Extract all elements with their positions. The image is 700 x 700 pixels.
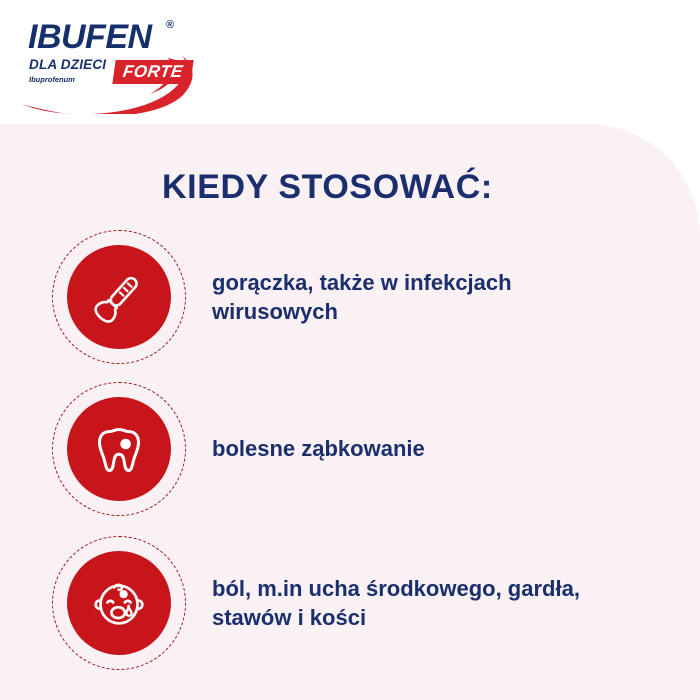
crying-baby-face-icon (90, 574, 148, 632)
list-item: gorączka, także w infekcjach wirusowych (52, 230, 652, 364)
list-item: bolesne ząbkowanie (52, 382, 652, 516)
thermometer-icon (90, 268, 148, 326)
icon-dashed-ring (52, 382, 186, 516)
list-item-label: ból, m.in ucha środkowego, gardła, stawó… (212, 574, 632, 633)
tooth-icon (90, 420, 148, 478)
list-item-label: gorączka, także w infekcjach wirusowych (212, 268, 632, 327)
icon-disc (67, 551, 171, 655)
list-item-label: bolesne ząbkowanie (212, 434, 425, 463)
brand-wordmark: IBUFEN (28, 20, 152, 54)
icon-dashed-ring (52, 230, 186, 364)
brand-variant-badge: FORTE (112, 60, 193, 84)
icon-disc (67, 397, 171, 501)
brand-active-substance: Ibuprofenum (29, 76, 75, 84)
icon-dashed-ring (52, 536, 186, 670)
list-item: ból, m.in ucha środkowego, gardła, stawó… (52, 536, 652, 670)
page-title: KIEDY STOSOWAĆ: (162, 170, 493, 204)
brand-subtitle: DLA DZIECI (29, 58, 106, 72)
icon-disc (67, 245, 171, 349)
content-panel: KIEDY STOSOWAĆ: gorączka, także w infekc… (0, 124, 700, 700)
brand-logo: IBUFEN ® DLA DZIECI Ibuprofenum FORTE (18, 14, 208, 114)
registered-trademark-icon: ® (166, 20, 174, 31)
